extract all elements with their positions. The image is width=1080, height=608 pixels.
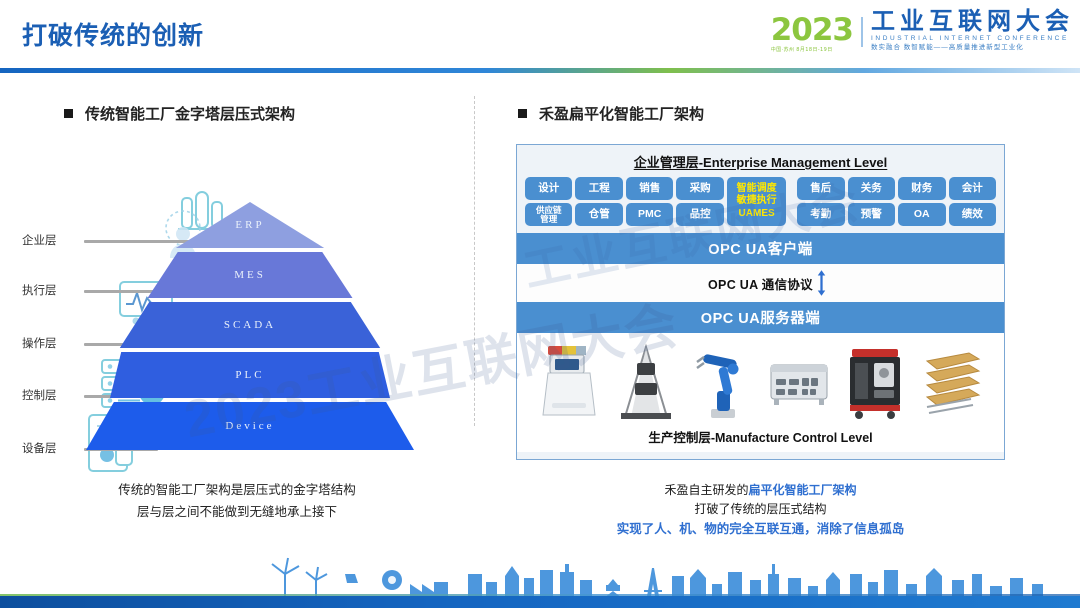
button-purchasing[interactable]: 采购 <box>676 177 723 200</box>
button-attendance[interactable]: 考勤 <box>797 203 844 226</box>
logo-year-subtitle: 中国·苏州 8月18日-19日 <box>771 48 853 53</box>
pyramid-tier-erp-label: ERP <box>235 219 264 231</box>
opc-ua-client-bar: OPC UA客户端 <box>517 233 1004 264</box>
button-pmc[interactable]: PMC <box>626 203 673 226</box>
pyramid-tier-device: Device <box>86 402 414 450</box>
pyramid-stack: ERP MES SCADA PLC Device <box>110 202 390 452</box>
footer-skyline <box>0 544 1080 608</box>
pyramid-tier-mes-label: MES <box>234 269 266 281</box>
logo-divider <box>861 17 863 47</box>
enterprise-button-grid: 设计 供应链管理 工程 仓管 销售 PMC 采购 品控 智能调度 敏捷执行 UA… <box>517 177 1004 233</box>
layer-label-device: 设备层 <box>22 440 82 456</box>
button-column: 采购 品控 <box>676 177 723 226</box>
opc-ua-server-bar: OPC UA服务器端 <box>517 302 1004 333</box>
section-heading-right-label: 禾盈扁平化智能工厂架构 <box>539 103 704 124</box>
uames-line2: 敏捷执行 <box>737 195 777 208</box>
header-divider-rule <box>0 68 1080 73</box>
layer-label-execution: 执行层 <box>22 282 82 298</box>
footer-band <box>0 596 1080 608</box>
uames-line3: UAMES <box>739 208 775 221</box>
right-caption-line1: 禾盈自主研发的扁平化智能工厂架构 <box>516 481 1005 500</box>
logo-main-title: 工业互联网大会 <box>871 10 1074 34</box>
square-bullet-icon <box>518 109 527 118</box>
button-column: 销售 PMC <box>626 177 673 226</box>
pyramid-tier-erp: ERP <box>110 202 390 248</box>
logo-english-subtitle: INDUSTRIAL INTERNET CONFERENCE <box>871 36 1074 43</box>
button-warehouse[interactable]: 仓管 <box>575 203 622 226</box>
button-column: 关务 预警 <box>848 177 895 226</box>
opc-ua-protocol-row: OPC UA 通信协议 <box>517 264 1004 302</box>
button-sales[interactable]: 销售 <box>626 177 673 200</box>
gantry-machine-icon <box>615 343 677 421</box>
left-caption-line2: 层与层之间不能做到无缝地承上接下 <box>0 502 474 524</box>
button-alert[interactable]: 预警 <box>848 203 895 226</box>
button-column: 工程 仓管 <box>575 177 622 226</box>
machine-photo-row <box>517 333 1004 423</box>
right-caption-line3: 实现了人、机、物的完全互联互通，消除了信息孤岛 <box>516 519 1005 539</box>
pyramid-tier-scada-label: SCADA <box>224 319 276 331</box>
pyramid-tier-scada: SCADA <box>110 302 390 348</box>
button-after-sales[interactable]: 售后 <box>797 177 844 200</box>
grid-spacer <box>789 177 794 226</box>
flat-architecture-panel: 企业管理层-Enterprise Management Level 设计 供应链… <box>516 144 1005 460</box>
section-heading-right: 禾盈扁平化智能工厂架构 <box>518 103 704 124</box>
button-quality-control[interactable]: 品控 <box>676 203 723 226</box>
pyramid-diagram: 企业层 执行层 操作层 控制层 设备层 ERP MES SCADA PLC De… <box>0 150 474 490</box>
robotic-arm-icon <box>691 343 753 421</box>
layer-label-operation: 操作层 <box>22 335 82 351</box>
manufacture-control-title: 生产控制层-Manufacture Control Level <box>517 423 1004 452</box>
conveyor-stack-icon <box>921 343 983 421</box>
page-title: 打破传统的创新 <box>22 16 204 52</box>
enterprise-management-title: 企业管理层-Enterprise Management Level <box>517 145 1004 177</box>
logo-chinese-tagline: 数实融合 数智赋能——高质量推进新型工业化 <box>871 45 1074 52</box>
right-caption-line2: 打破了传统的层压式结构 <box>516 500 1005 519</box>
right-caption-line1-highlight: 扁平化智能工厂架构 <box>749 483 857 497</box>
button-oa[interactable]: OA <box>898 203 945 226</box>
square-bullet-icon <box>64 109 73 118</box>
button-performance[interactable]: 绩效 <box>949 203 996 226</box>
button-column: 售后 考勤 <box>797 177 844 226</box>
logo-year-text: 2023 <box>771 12 853 48</box>
layer-label-enterprise: 企业层 <box>22 232 82 248</box>
pyramid-tier-mes: MES <box>110 252 390 298</box>
button-accounting[interactable]: 会计 <box>949 177 996 200</box>
double-arrow-icon <box>817 269 826 297</box>
agv-robot-icon <box>538 343 600 421</box>
pyramid-tier-device-label: Device <box>225 420 274 432</box>
left-caption: 传统的智能工厂架构是层压式的金字塔结构 层与层之间不能做到无缝地承上接下 <box>0 480 474 524</box>
button-customs[interactable]: 关务 <box>848 177 895 200</box>
button-supply-chain-mgmt[interactable]: 供应链管理 <box>525 203 572 226</box>
conference-logo: 2023 中国·苏州 8月18日-19日 工业互联网大会 INDUSTRIAL … <box>771 10 1074 53</box>
button-design[interactable]: 设计 <box>525 177 572 200</box>
right-caption: 禾盈自主研发的扁平化智能工厂架构 打破了传统的层压式结构 实现了人、机、物的完全… <box>516 481 1005 539</box>
right-caption-line1-pre: 禾盈自主研发的 <box>664 483 748 497</box>
button-column: 设计 供应链管理 <box>525 177 572 226</box>
industrial-pc-icon <box>768 343 830 421</box>
button-column: 财务 OA <box>898 177 945 226</box>
left-caption-line1: 传统的智能工厂架构是层压式的金字塔结构 <box>0 480 474 502</box>
logo-text-block: 工业互联网大会 INDUSTRIAL INTERNET CONFERENCE 数… <box>871 10 1074 53</box>
layer-label-control: 控制层 <box>22 387 82 403</box>
cnc-machine-icon <box>844 343 906 421</box>
button-finance[interactable]: 财务 <box>898 177 945 200</box>
button-engineering[interactable]: 工程 <box>575 177 622 200</box>
pyramid-tier-plc-label: PLC <box>235 369 264 381</box>
vertical-divider <box>474 96 475 426</box>
section-heading-left: 传统智能工厂金字塔层压式架构 <box>64 103 295 124</box>
uames-highlight-button[interactable]: 智能调度 敏捷执行 UAMES <box>727 177 786 226</box>
pyramid-tier-plc: PLC <box>110 352 390 398</box>
uames-line1: 智能调度 <box>737 183 777 196</box>
logo-year: 2023 中国·苏州 8月18日-19日 <box>771 15 853 53</box>
section-heading-left-label: 传统智能工厂金字塔层压式架构 <box>85 103 295 124</box>
button-column: 会计 绩效 <box>949 177 996 226</box>
opc-ua-protocol-label: OPC UA 通信协议 <box>708 274 813 293</box>
